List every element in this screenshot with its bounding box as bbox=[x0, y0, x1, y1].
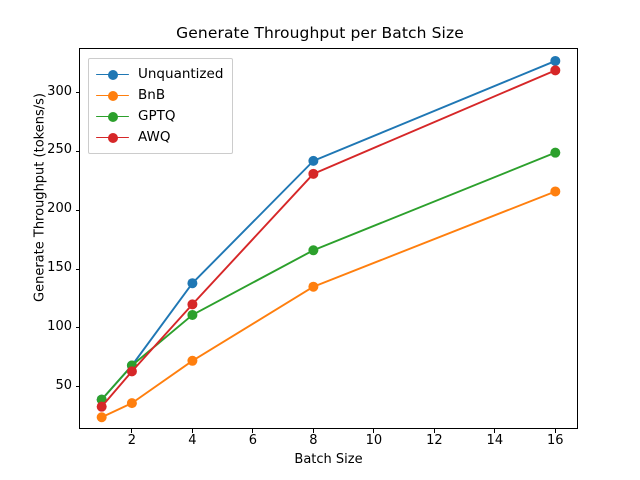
legend-marker-icon bbox=[96, 110, 129, 124]
data-point bbox=[187, 278, 197, 288]
data-point bbox=[550, 65, 560, 75]
data-point bbox=[187, 310, 197, 320]
y-tick-label: 100 bbox=[0, 319, 78, 334]
x-tick-label: 16 bbox=[525, 433, 585, 448]
y-tick-label: 300 bbox=[0, 84, 78, 99]
legend-item-unquantized[interactable]: Unquantized bbox=[96, 64, 223, 85]
legend-dot bbox=[108, 133, 118, 143]
legend-item-bnb[interactable]: BnB bbox=[96, 85, 223, 106]
x-tick-label: 12 bbox=[404, 433, 464, 448]
data-point bbox=[308, 245, 318, 255]
legend-marker-icon bbox=[96, 89, 129, 103]
data-point bbox=[308, 169, 318, 179]
data-point bbox=[187, 356, 197, 366]
data-point bbox=[550, 56, 560, 66]
series-bnb bbox=[97, 186, 561, 422]
data-point bbox=[550, 186, 560, 196]
legend-label: GPTQ bbox=[138, 110, 175, 124]
chart-title: Generate Throughput per Batch Size bbox=[0, 24, 640, 42]
y-tick-label: 250 bbox=[0, 142, 78, 157]
legend-marker-icon bbox=[96, 68, 129, 82]
legend-dot bbox=[108, 91, 118, 101]
x-tick-label: 6 bbox=[223, 433, 283, 448]
legend-dot bbox=[108, 70, 118, 80]
x-tick-label: 8 bbox=[283, 433, 343, 448]
data-point bbox=[308, 282, 318, 292]
legend-marker-icon bbox=[96, 131, 129, 145]
data-point bbox=[127, 398, 137, 408]
matplotlib-figure: Generate Throughput per Batch Size Gener… bbox=[0, 0, 640, 480]
legend-dot bbox=[108, 112, 118, 122]
series-gptq bbox=[97, 148, 561, 405]
legend-label: AWQ bbox=[138, 131, 170, 145]
y-tick-label: 200 bbox=[0, 201, 78, 216]
x-tick-label: 2 bbox=[102, 433, 162, 448]
legend-item-gptq[interactable]: GPTQ bbox=[96, 106, 223, 127]
series-line bbox=[102, 153, 556, 400]
series-line bbox=[102, 191, 556, 417]
data-point bbox=[97, 412, 107, 422]
x-tick-label: 10 bbox=[344, 433, 404, 448]
data-point bbox=[97, 402, 107, 412]
data-point bbox=[187, 299, 197, 309]
legend[interactable]: UnquantizedBnBGPTQAWQ bbox=[88, 58, 233, 154]
x-axis-label: Batch Size bbox=[79, 452, 578, 467]
data-point bbox=[550, 148, 560, 158]
legend-label: Unquantized bbox=[138, 68, 223, 82]
legend-item-awq[interactable]: AWQ bbox=[96, 127, 223, 148]
y-tick-label: 50 bbox=[0, 378, 78, 393]
x-tick-label: 14 bbox=[465, 433, 525, 448]
data-point bbox=[127, 366, 137, 376]
legend-label: BnB bbox=[138, 89, 165, 103]
data-point bbox=[308, 156, 318, 166]
y-tick-label: 150 bbox=[0, 260, 78, 275]
x-tick-label: 4 bbox=[162, 433, 222, 448]
